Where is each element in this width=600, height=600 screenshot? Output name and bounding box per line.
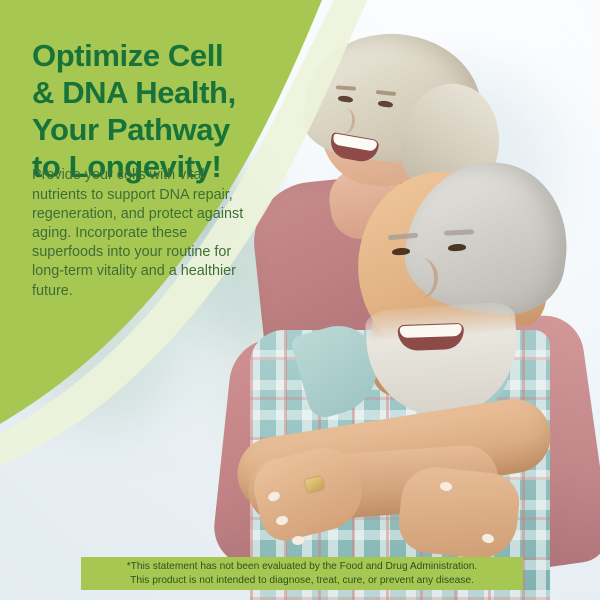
man-nose [404,258,438,298]
disclaimer-line-2: This product is not intended to diagnose… [130,574,474,588]
page-title: Optimize Cell & DNA Health, Your Pathway… [32,37,277,185]
fda-disclaimer-bar: *This statement has not been evaluated b… [81,557,523,590]
promotional-poster: Optimize Cell & DNA Health, Your Pathway… [0,0,600,600]
headline-line-3: Your Pathway [32,111,277,148]
man-teeth [400,324,462,338]
disclaimer-line-1: *This statement has not been evaluated b… [127,560,478,574]
body-paragraph: Provide your cells with vital nutrients … [32,166,247,300]
headline-line-2: & DNA Health, [32,74,277,111]
headline-line-1: Optimize Cell [32,37,277,74]
woman-hand-right [396,464,522,562]
